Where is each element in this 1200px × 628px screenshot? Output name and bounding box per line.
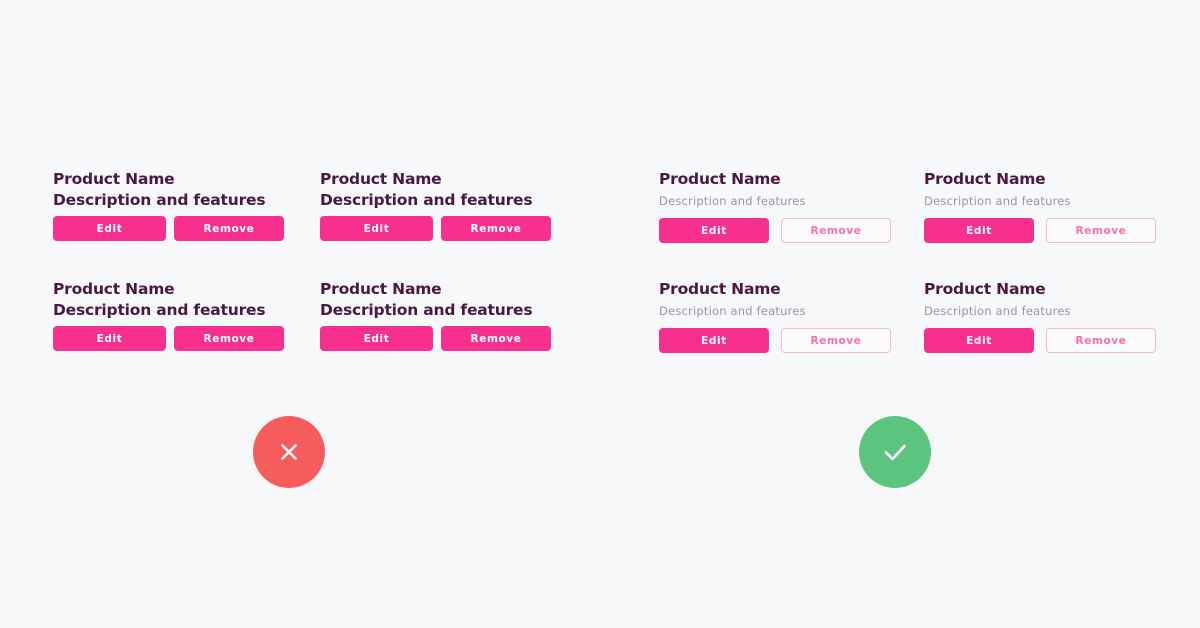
edit-button[interactable]: Edit [320, 216, 433, 241]
remove-button[interactable]: Remove [441, 216, 551, 241]
product-card: Product Name Description and features Ed… [924, 169, 1174, 243]
card-actions: Edit Remove [320, 216, 570, 241]
card-actions: Edit Remove [659, 328, 909, 353]
remove-button[interactable]: Remove [781, 328, 891, 353]
check-icon [878, 435, 912, 469]
edit-button[interactable]: Edit [659, 328, 769, 353]
product-description: Description and features [924, 303, 1174, 319]
product-title: Product Name [320, 169, 570, 189]
product-title: Product Name [659, 279, 909, 299]
remove-button[interactable]: Remove [1046, 328, 1156, 353]
product-description: Description and features [53, 190, 303, 210]
product-card: Product Name Description and features Ed… [924, 279, 1174, 353]
product-card: Product Name Description and features Ed… [53, 169, 303, 241]
remove-button[interactable]: Remove [441, 326, 551, 351]
edit-button[interactable]: Edit [659, 218, 769, 243]
comparison-canvas: Product Name Description and features Ed… [0, 0, 1200, 628]
product-title: Product Name [320, 279, 570, 299]
product-title: Product Name [53, 169, 303, 189]
card-actions: Edit Remove [924, 328, 1174, 353]
product-description: Description and features [320, 300, 570, 320]
remove-button[interactable]: Remove [781, 218, 891, 243]
card-actions: Edit Remove [53, 326, 303, 351]
product-title: Product Name [924, 169, 1174, 189]
product-card: Product Name Description and features Ed… [320, 169, 570, 241]
card-actions: Edit Remove [659, 218, 909, 243]
remove-button[interactable]: Remove [174, 216, 284, 241]
product-description: Description and features [320, 190, 570, 210]
incorrect-verdict-badge [253, 416, 325, 488]
card-actions: Edit Remove [320, 326, 570, 351]
remove-button[interactable]: Remove [174, 326, 284, 351]
close-icon [274, 437, 304, 467]
remove-button[interactable]: Remove [1046, 218, 1156, 243]
product-description: Description and features [659, 193, 909, 209]
product-title: Product Name [659, 169, 909, 189]
product-card: Product Name Description and features Ed… [320, 279, 570, 351]
edit-button[interactable]: Edit [924, 218, 1034, 243]
product-description: Description and features [924, 193, 1174, 209]
product-title: Product Name [53, 279, 303, 299]
product-description: Description and features [659, 303, 909, 319]
card-actions: Edit Remove [924, 218, 1174, 243]
correct-verdict-badge [859, 416, 931, 488]
edit-button[interactable]: Edit [53, 216, 166, 241]
product-card: Product Name Description and features Ed… [53, 279, 303, 351]
product-title: Product Name [924, 279, 1174, 299]
edit-button[interactable]: Edit [320, 326, 433, 351]
product-card: Product Name Description and features Ed… [659, 169, 909, 243]
card-actions: Edit Remove [53, 216, 303, 241]
edit-button[interactable]: Edit [53, 326, 166, 351]
product-card: Product Name Description and features Ed… [659, 279, 909, 353]
product-description: Description and features [53, 300, 303, 320]
edit-button[interactable]: Edit [924, 328, 1034, 353]
